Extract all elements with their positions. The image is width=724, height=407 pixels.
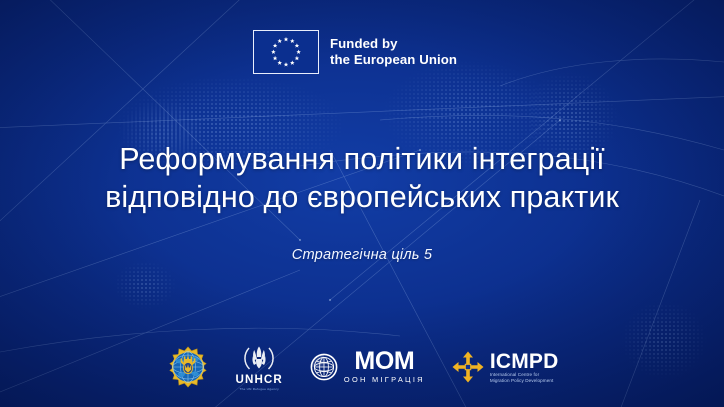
eu-funding-line2: the European Union (330, 52, 457, 68)
iom-tagline: ООН МІГРАЦІЯ (344, 374, 425, 385)
eu-funding-lockup: Funded by the European Union (253, 30, 457, 74)
unhcr-tagline: The UN Refugee Agency (239, 387, 278, 391)
globe-trident-emblem-icon (166, 345, 210, 389)
page-title: Реформування політики інтеграції відпові… (0, 140, 724, 216)
partner-logo-icmpd: ICMPD International Centre for Migration… (451, 350, 559, 384)
four-arrow-compass-icon (451, 350, 485, 384)
icmpd-wordmark: ICMPD (490, 351, 559, 372)
eu-stars (254, 31, 318, 73)
partner-logo-strip: UNHCR The UN Refugee Agency М (0, 338, 724, 396)
iom-wordmark: МОМ (354, 349, 414, 374)
eu-funding-line1: Funded by (330, 36, 457, 52)
partner-logo-state-migration-service (166, 345, 210, 389)
page-title-line1: Реформування політики інтеграції (0, 140, 724, 178)
page-title-line2: відповідно до європейських практик (0, 178, 724, 216)
icmpd-tagline-line2: Migration Policy Development (490, 378, 554, 384)
presentation-slide: Funded by the European Union Реформуванн… (0, 0, 724, 407)
eu-funding-text: Funded by the European Union (330, 36, 457, 67)
page-subtitle: Стратегічна ціль 5 (0, 247, 724, 263)
iom-globe-icon (309, 352, 339, 382)
eu-flag-icon (253, 30, 319, 74)
partner-logo-iom: МОМ ООН МІГРАЦІЯ (309, 349, 425, 385)
unhcr-hands-laurel-icon (242, 343, 276, 373)
partner-logo-unhcr: UNHCR The UN Refugee Agency (236, 343, 283, 391)
unhcr-wordmark: UNHCR (236, 374, 283, 386)
